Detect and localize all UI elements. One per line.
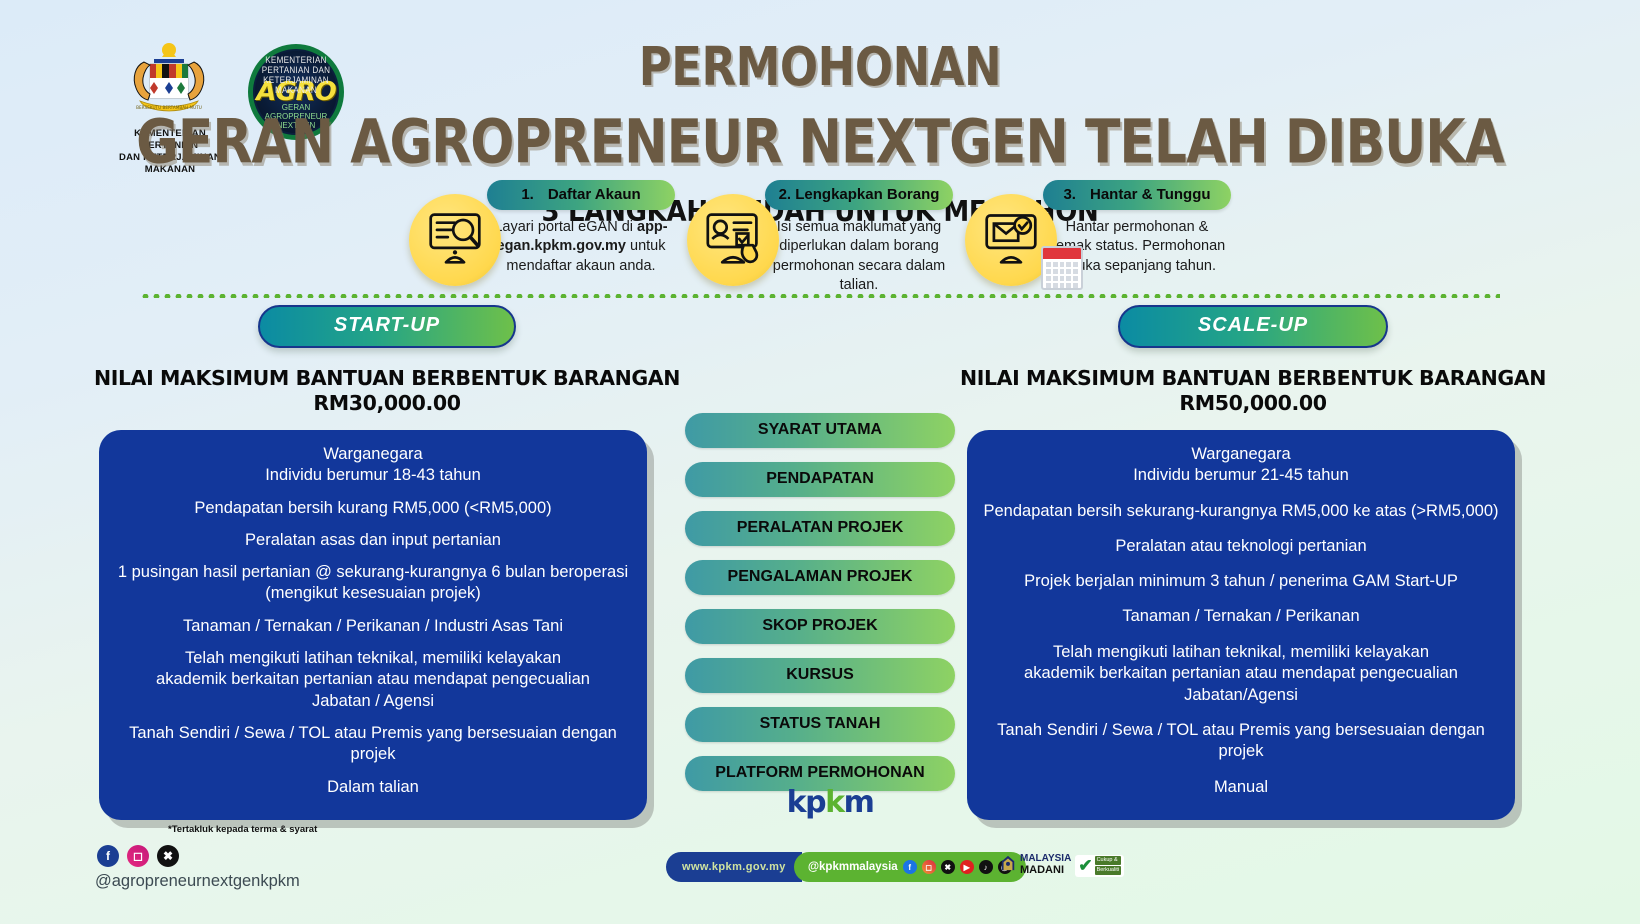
criteria-line: Warganegara (111, 444, 635, 465)
tiktok-icon[interactable]: ♪ (979, 860, 993, 874)
criteria-row: 1 pusingan hasil pertanian @ sekurang-ku… (111, 562, 635, 605)
startup-column: START-UP NILAI MAKSIMUM BANTUAN BERBENTU… (89, 305, 685, 820)
criteria-row: Peralatan atau teknologi pertanian (979, 536, 1503, 557)
x-twitter-icon[interactable]: ✖ (941, 860, 955, 874)
step-3-title: Hantar & Tunggu (1090, 186, 1211, 203)
check-badge-line1: Cukup & (1095, 856, 1122, 865)
criteria-row: Projek berjalan minimum 3 tahun / peneri… (979, 571, 1503, 592)
madani-emblem-icon (1000, 854, 1016, 877)
category-pill-6: KURSUS (685, 658, 955, 693)
criteria-line: Manual (979, 777, 1503, 798)
monitor-search-icon (426, 211, 484, 270)
criteria-row: Tanah Sendiri / Sewa / TOL atau Premis y… (111, 723, 635, 766)
quality-check-badge: ✔ Cukup & Berkualiti (1075, 855, 1124, 877)
website-label[interactable]: www.kpkm.gov.my (666, 852, 802, 882)
calendar-icon (1041, 246, 1083, 290)
social-handle-group: @kpkmmalaysia f ◻ ✖ ▶ ♪ @ (794, 852, 1026, 882)
step-2: 2. Lengkapkan Borang Isi semua maklumat … (687, 180, 953, 295)
criteria-line: Individu berumur 21-45 tahun (979, 465, 1503, 486)
kpkm-logo-kp: kp (787, 785, 825, 820)
step-1-title-pill: 1.Daftar Akaun (487, 180, 675, 210)
category-pill-7: STATUS TANAH (685, 707, 955, 742)
criteria-line: Tanah Sendiri / Sewa / TOL atau Premis y… (111, 723, 635, 766)
facebook-icon[interactable]: f (903, 860, 917, 874)
criteria-line: Individu berumur 18-43 tahun (111, 465, 635, 486)
criteria-row: Pendapatan bersih sekurang-kurangnya RM5… (979, 501, 1503, 522)
kpkm-logo: kpkm (740, 785, 920, 820)
criteria-row: Tanaman / Ternakan / Perikanan / Industr… (111, 616, 635, 637)
step-2-title-pill: 2. Lengkapkan Borang (765, 180, 953, 210)
startup-max-title-line1: NILAI MAKSIMUM BANTUAN BERBENTUK BARANGA… (89, 366, 685, 391)
check-badge-line2: Berkualiti (1095, 866, 1122, 875)
category-pill-3: PERALATAN PROJEK (685, 511, 955, 546)
title-line-2: GERAN AGROPRENEUR NEXTGEN TELAH DIBUKA (136, 108, 1504, 178)
scaleup-column: SCALE-UP NILAI MAKSIMUM BANTUAN BERBENTU… (955, 305, 1551, 820)
category-pill-4: PENGALAMAN PROJEK (685, 560, 955, 595)
criteria-line: Peralatan asas dan input pertanian (111, 530, 635, 551)
criteria-line: Tanaman / Ternakan / Perikanan / Industr… (111, 616, 635, 637)
scaleup-max-amount: RM50,000.00 (955, 391, 1551, 416)
criteria-line: 1 pusingan hasil pertanian @ sekurang-ku… (111, 562, 635, 583)
youtube-icon[interactable]: ▶ (960, 860, 974, 874)
scaleup-track-pill: SCALE-UP (1118, 305, 1388, 348)
disclaimer-text: *Tertakluk kepada terma & syarat (168, 824, 317, 835)
step-2-icon-circle (687, 194, 779, 286)
facebook-icon[interactable]: f (97, 845, 119, 867)
step-2-body: 2. Lengkapkan Borang Isi semua maklumat … (765, 180, 953, 295)
social-handle-text: @kpkmmalaysia (808, 861, 898, 873)
step-3-icon-circle (965, 194, 1057, 286)
kpkm-logo-m: m (844, 785, 874, 820)
madani-line2: MADANI (1020, 865, 1071, 877)
criteria-line: Tanaman / Ternakan / Perikanan (979, 606, 1503, 627)
criteria-line: Tanah Sendiri / Sewa / TOL atau Premis y… (979, 720, 1503, 763)
startup-max-amount: RM30,000.00 (89, 391, 685, 416)
kpkm-logo-k: k (825, 785, 843, 820)
category-pill-1: SYARAT UTAMA (685, 413, 955, 448)
scaleup-max-title-line1: NILAI MAKSIMUM BANTUAN BERBENTUK BARANGA… (955, 366, 1551, 391)
criteria-row: Tanaman / Ternakan / Perikanan (979, 606, 1503, 627)
criteria-line: akademik berkaitan pertanian atau mendap… (979, 663, 1503, 684)
criteria-row: WarganegaraIndividu berumur 18-43 tahun (111, 444, 635, 487)
criteria-line: (mengikut kesesuaian projek) (111, 583, 635, 604)
step-1-body: 1.Daftar Akaun Layari portal eGAN di app… (487, 180, 675, 276)
category-pill-2: PENDAPATAN (685, 462, 955, 497)
category-column: SYARAT UTAMAPENDAPATANPERALATAN PROJEKPE… (685, 305, 955, 820)
step-1: 1.Daftar Akaun Layari portal eGAN di app… (409, 180, 675, 295)
step-3: 3.Hantar & Tunggu Hantar permohonan & se… (965, 180, 1231, 295)
malaysia-madani-badge: MALAYSIA MADANI ✔ Cukup & Berkualiti (1000, 854, 1124, 877)
header: BERSEKUTU BERTAMBAH MUTU KEMENTERIAN PER… (0, 0, 1640, 172)
criteria-line: Telah mengikuti latihan teknikal, memili… (111, 648, 635, 669)
criteria-line: Jabatan/Agensi (979, 685, 1503, 706)
scaleup-panel: WarganegaraIndividu berumur 21-45 tahunP… (967, 430, 1515, 820)
step-3-number: 3. (1063, 186, 1076, 203)
agropreneur-handle: @agropreneurnextgenkpkm (95, 872, 300, 891)
dotted-divider (140, 294, 1500, 298)
comparison-section: START-UP NILAI MAKSIMUM BANTUAN BERBENTU… (0, 305, 1640, 820)
criteria-line: Warganegara (979, 444, 1503, 465)
criteria-row: Dalam talian (111, 777, 635, 798)
criteria-line: Telah mengikuti latihan teknikal, memili… (979, 642, 1503, 663)
criteria-row: Tanah Sendiri / Sewa / TOL atau Premis y… (979, 720, 1503, 763)
monitor-form-click-icon (704, 211, 762, 270)
step-1-icon-circle (409, 194, 501, 286)
criteria-row: Peralatan asas dan input pertanian (111, 530, 635, 551)
category-pill-5: SKOP PROJEK (685, 609, 955, 644)
criteria-line: Pendapatan bersih sekurang-kurangnya RM5… (979, 501, 1503, 522)
madani-text: MALAYSIA MADANI (1020, 854, 1071, 876)
criteria-row: Pendapatan bersih kurang RM5,000 (<RM5,0… (111, 498, 635, 519)
criteria-line: Pendapatan bersih kurang RM5,000 (<RM5,0… (111, 498, 635, 519)
startup-max-title: NILAI MAKSIMUM BANTUAN BERBENTUK BARANGA… (89, 366, 685, 416)
step-1-title: Daftar Akaun (548, 186, 641, 203)
step-1-desc-pre: Layari portal eGAN di (494, 219, 637, 235)
check-icon: ✔ (1078, 856, 1092, 876)
step-3-title-pill: 3.Hantar & Tunggu (1043, 180, 1231, 210)
step-2-description: Isi semua maklumat yang diperlukan dalam… (765, 218, 953, 295)
instagram-icon[interactable]: ◻ (922, 860, 936, 874)
step-1-number: 1. (521, 186, 534, 203)
criteria-line: Dalam talian (111, 777, 635, 798)
criteria-line: Peralatan atau teknologi pertanian (979, 536, 1503, 557)
title-line-1: PERMOHONAN (639, 35, 1001, 98)
steps-section: 1.Daftar Akaun Layari portal eGAN di app… (0, 180, 1640, 295)
startup-panel: WarganegaraIndividu berumur 18-43 tahunP… (99, 430, 647, 820)
step-1-description: Layari portal eGAN di app-egan.kpkm.gov.… (487, 218, 675, 276)
criteria-row: Manual (979, 777, 1503, 798)
criteria-row: WarganegaraIndividu berumur 21-45 tahun (979, 444, 1503, 487)
criteria-row: Telah mengikuti latihan teknikal, memili… (979, 642, 1503, 706)
instagram-icon[interactable]: ◻ (127, 845, 149, 867)
startup-track-pill: START-UP (258, 305, 516, 348)
criteria-line: Jabatan / Agensi (111, 691, 635, 712)
social-links-left[interactable]: f ◻ ✖ (97, 845, 179, 867)
criteria-line: akademik berkaitan pertanian atau mendap… (111, 669, 635, 690)
scaleup-max-title: NILAI MAKSIMUM BANTUAN BERBENTUK BARANGA… (955, 366, 1551, 416)
footer-bar: www.kpkm.gov.my @kpkmmalaysia f ◻ ✖ ▶ ♪ … (666, 852, 1026, 882)
criteria-line: Projek berjalan minimum 3 tahun / peneri… (979, 571, 1503, 592)
monitor-mail-check-icon (982, 211, 1040, 270)
x-twitter-icon[interactable]: ✖ (157, 845, 179, 867)
criteria-row: Telah mengikuti latihan teknikal, memili… (111, 648, 635, 712)
